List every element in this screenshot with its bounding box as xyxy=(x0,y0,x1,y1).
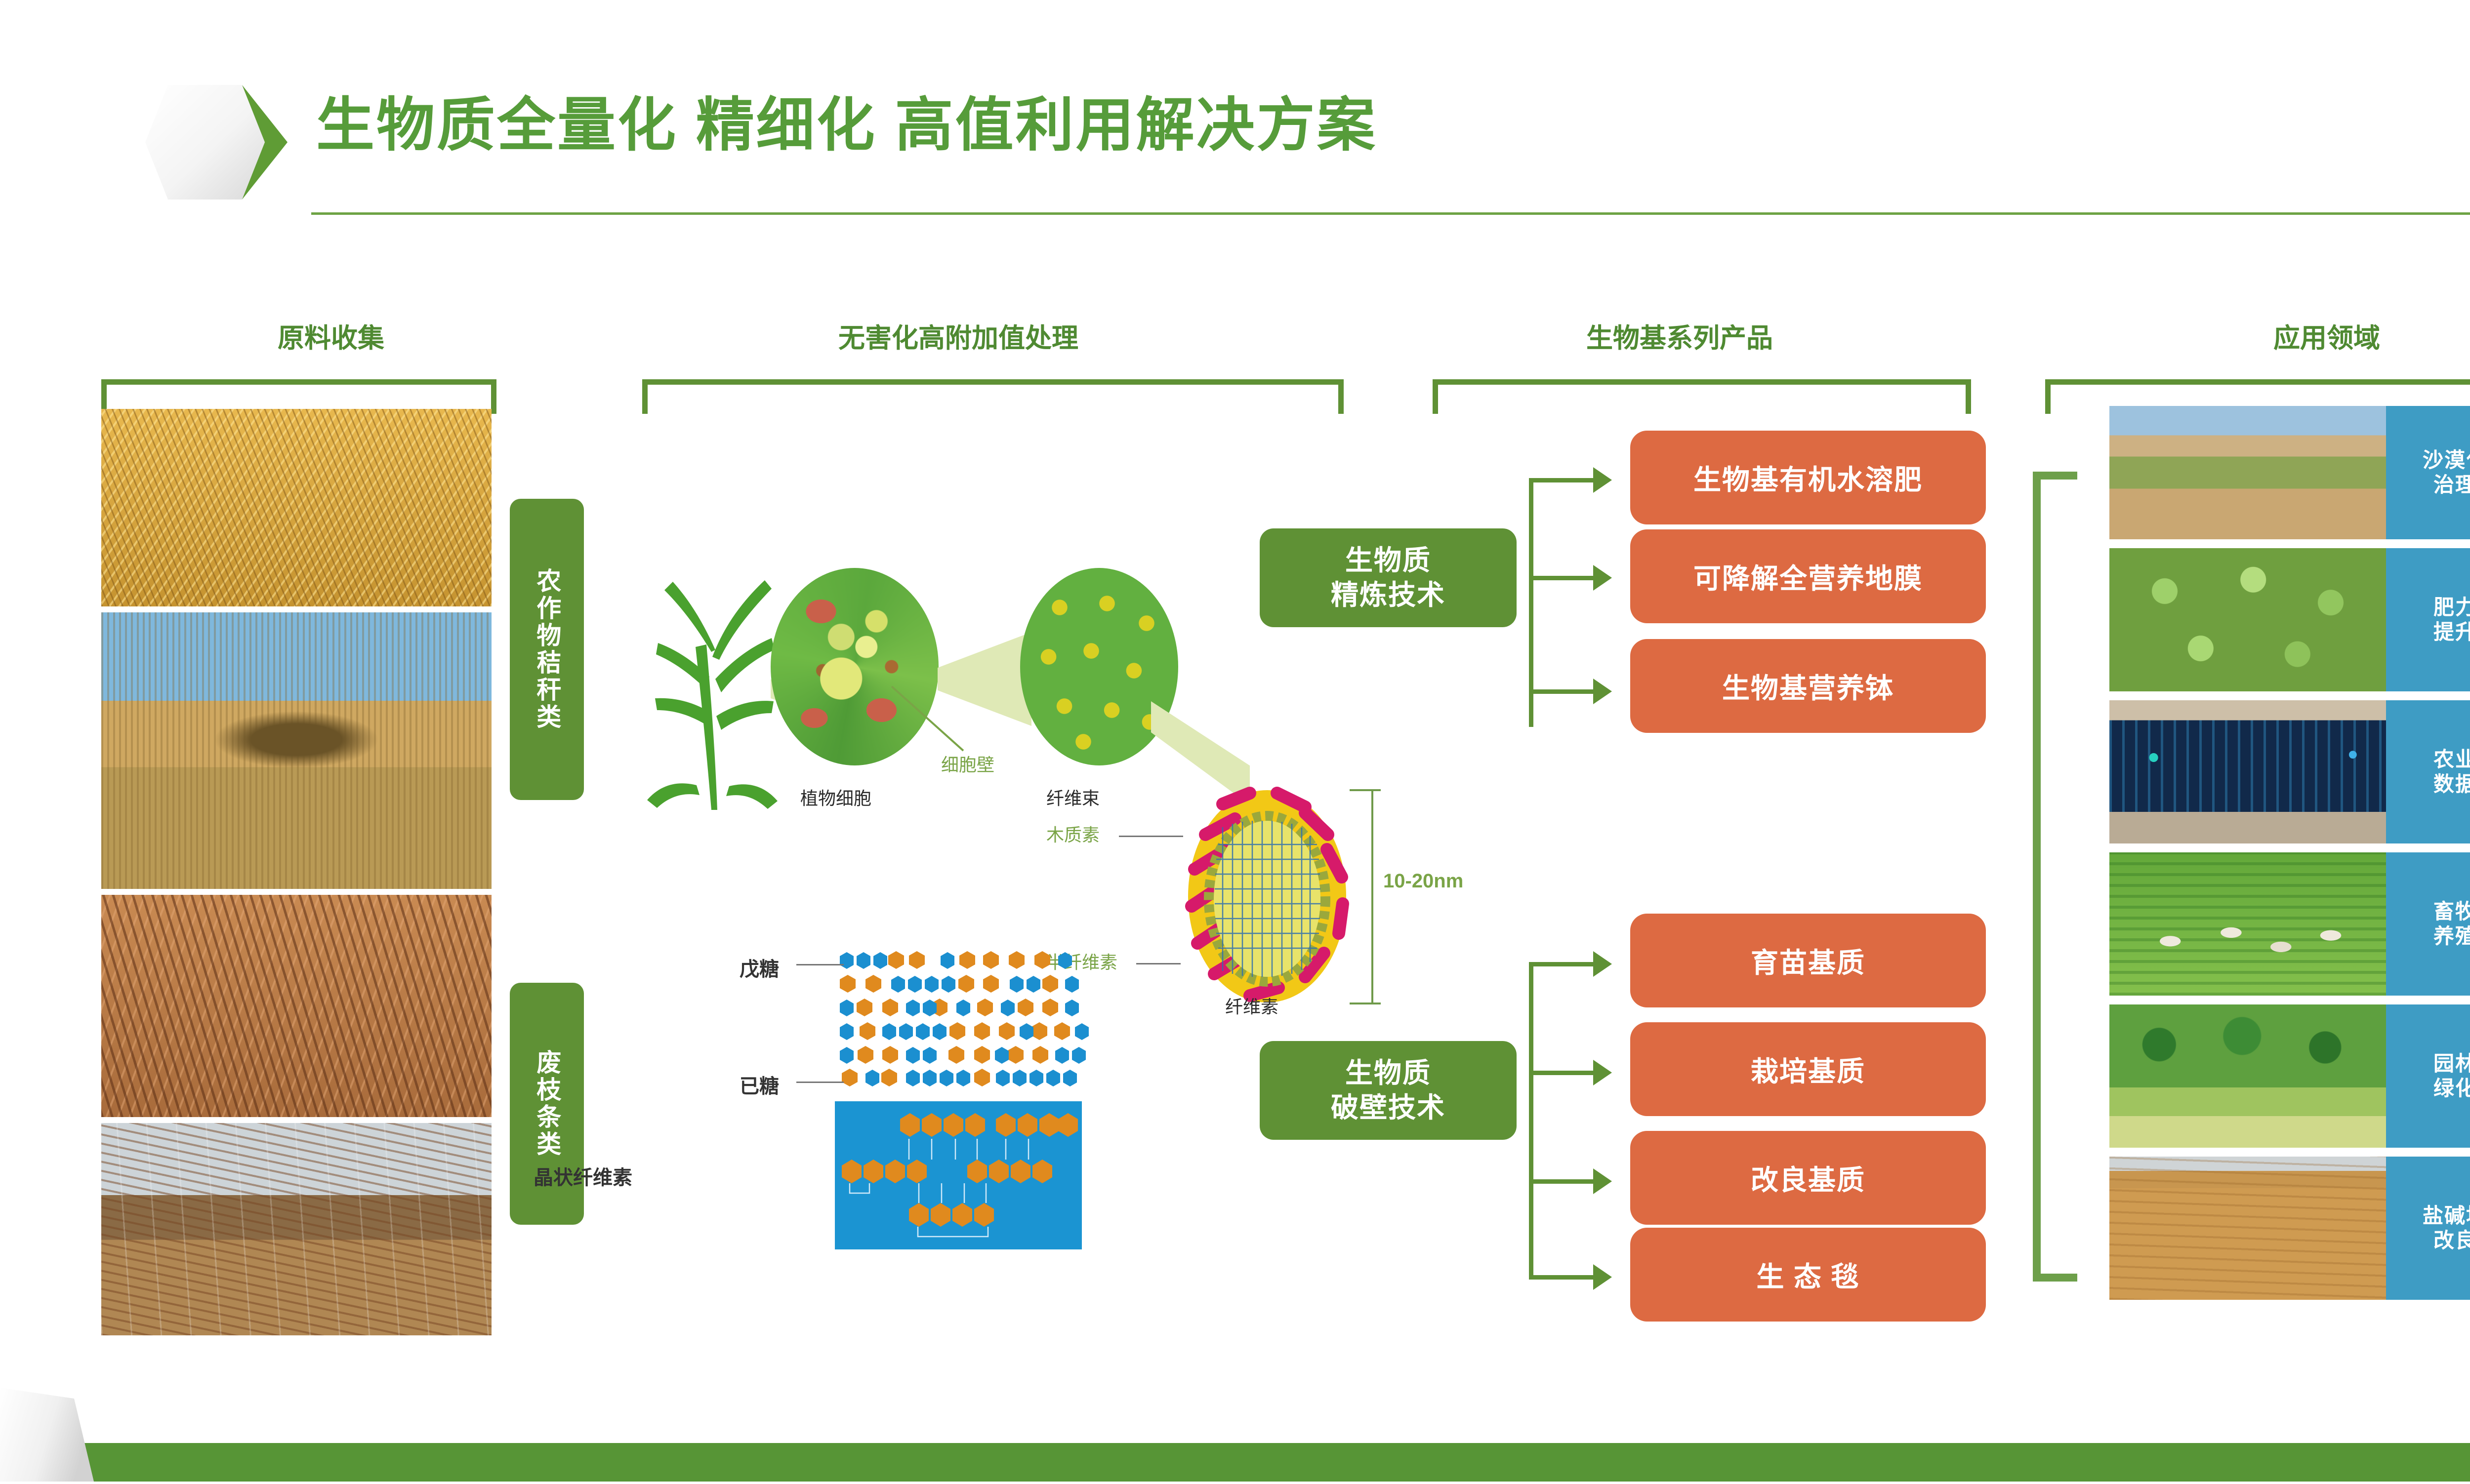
page-header: 生物质全量化 精细化 高值利用解决方案 xyxy=(0,0,2470,232)
label-hexose: 已糖 xyxy=(740,1070,779,1099)
section-title-raw-material: 原料收集 xyxy=(158,316,504,355)
app-label-livestock-breeding[interactable]: 畜牧 养殖 xyxy=(2386,852,2470,996)
app-label-desertification-control[interactable]: 沙漠化 治理 xyxy=(2386,406,2470,539)
flow2-branch-1 xyxy=(1529,962,1593,966)
label-fiber-bundle: 纤维束 xyxy=(1046,784,1100,810)
tech-line-1: 生物质 xyxy=(1345,543,1431,578)
bracket-processing xyxy=(642,379,1344,414)
hexagon-chevron-logo xyxy=(134,75,302,209)
hexose-leader-line xyxy=(796,1082,844,1083)
app-label-line-2: 提升 xyxy=(2433,620,2470,644)
corn-stalk-field-photo xyxy=(101,409,492,606)
label-pentose: 戊糖 xyxy=(740,953,779,982)
grass-plant-icon xyxy=(637,553,790,810)
category-label-crop-straw: 农作物秸秆类 xyxy=(510,499,584,800)
product-box-ecological-blanket[interactable]: 生 态 毯 xyxy=(1630,1228,1986,1322)
product-box-improvement-substrate[interactable]: 改良基质 xyxy=(1630,1131,1986,1225)
saline-land-photo xyxy=(2109,1157,2386,1300)
label-crystalline-cellulose: 晶状纤维素 xyxy=(534,1162,632,1190)
app-label-line-1: 园林 xyxy=(2433,1051,2470,1076)
product-box-biobased-nutrient-pot[interactable]: 生物基营养钵 xyxy=(1630,639,1986,733)
fiber-bundle-illustration xyxy=(1020,568,1178,765)
flow2-branch-3 xyxy=(1529,1179,1593,1184)
label-plant-cell: 植物细胞 xyxy=(800,784,871,810)
footer-bar xyxy=(0,1443,2470,1482)
product-box-organic-water-soluble-fertilizer[interactable]: 生物基有机水溶肥 xyxy=(1630,431,1986,524)
section-title-applications: 应用领域 xyxy=(2129,316,2470,355)
flow2-arrow-1 xyxy=(1593,951,1612,977)
app-label-line-2: 治理 xyxy=(2433,473,2470,497)
label-lignin: 木质素 xyxy=(1046,821,1100,846)
page-title: 生物质全量化 精细化 高值利用解决方案 xyxy=(316,94,1377,158)
tech-line-2: 精炼技术 xyxy=(1331,578,1445,612)
app-label-line-1: 盐碱地 xyxy=(2423,1203,2470,1228)
sheep-grazing-photo xyxy=(2109,852,2386,996)
product-box-degradable-nutrient-mulch-film[interactable]: 可降解全营养地膜 xyxy=(1630,529,1986,623)
crystalline-cellulose-illustration xyxy=(835,1101,1082,1249)
app-label-line-1: 农业 xyxy=(2433,747,2470,772)
pruned-branches-photo xyxy=(101,895,492,1117)
label-dimension-10-20nm: 10-20nm xyxy=(1383,870,1463,892)
product-box-seedling-substrate[interactable]: 育苗基质 xyxy=(1630,914,1986,1007)
flow1-branch-1 xyxy=(1529,478,1593,482)
app-label-landscape-greening[interactable]: 园林 绿化 xyxy=(2386,1004,2470,1148)
app-label-line-1: 畜牧 xyxy=(2433,899,2470,924)
app-label-line-2: 养殖 xyxy=(2433,924,2470,949)
tech-box-biomass-refining[interactable]: 生物质 精炼技术 xyxy=(1260,528,1517,627)
app-label-fertility-improvement[interactable]: 肥力 提升 xyxy=(2386,548,2470,691)
product-box-cultivation-substrate[interactable]: 栽培基质 xyxy=(1630,1022,1986,1116)
pentose-leader-line xyxy=(796,964,844,965)
straw-bale-field-photo xyxy=(101,612,492,889)
section-title-products: 生物基系列产品 xyxy=(1418,316,1941,355)
cellulose-cross-section-illustration xyxy=(1176,780,1383,1012)
app-label-agriculture-data[interactable]: 农业 数据 xyxy=(2386,700,2470,843)
park-greening-photo xyxy=(2109,1004,2386,1148)
flow1-arrow-3 xyxy=(1593,679,1612,704)
desert-restoration-photo xyxy=(2109,406,2386,539)
tech-line-1: 生物质 xyxy=(1345,1056,1431,1090)
vineyard-pruning-photo xyxy=(101,1123,492,1335)
section-title-processing: 无害化高附加值处理 xyxy=(632,316,1284,355)
flow2-trunk xyxy=(1529,963,1533,1279)
app-label-line-1: 沙漠化 xyxy=(2423,448,2470,473)
agriculture-data-center-photo xyxy=(2109,700,2386,843)
flow2-arrow-3 xyxy=(1593,1168,1612,1194)
hemicellulose-leader-line xyxy=(1136,963,1181,964)
flow2-arrow-4 xyxy=(1593,1264,1612,1290)
app-label-line-2: 绿化 xyxy=(2433,1076,2470,1101)
lignin-leader-line xyxy=(1119,836,1183,837)
label-cellulose: 纤维素 xyxy=(1225,993,1278,1018)
app-label-line-1: 肥力 xyxy=(2433,595,2470,620)
sugar-chain-illustration xyxy=(835,948,1092,1091)
flow1-branch-2 xyxy=(1529,576,1593,580)
bracket-products xyxy=(1433,379,1971,414)
flow1-branch-3 xyxy=(1529,689,1593,694)
app-label-line-2: 数据 xyxy=(2433,772,2470,797)
flow2-arrow-2 xyxy=(1593,1060,1612,1085)
applications-bracket xyxy=(2033,472,2077,1282)
cabbage-field-photo xyxy=(2109,548,2386,691)
flow1-arrow-1 xyxy=(1593,467,1612,493)
flow2-branch-2 xyxy=(1529,1071,1593,1075)
flow1-arrow-2 xyxy=(1593,565,1612,591)
tech-line-2: 破壁技术 xyxy=(1331,1090,1445,1125)
label-cell-wall: 细胞壁 xyxy=(941,751,994,776)
tech-box-biomass-cell-wall-breaking[interactable]: 生物质 破壁技术 xyxy=(1260,1041,1517,1140)
app-label-saline-alkali-land-improvement[interactable]: 盐碱地 改良 xyxy=(2386,1157,2470,1300)
footer-corner-wedge xyxy=(0,1388,114,1482)
flow2-branch-4 xyxy=(1529,1275,1593,1280)
title-underline xyxy=(311,212,2470,215)
app-label-line-2: 改良 xyxy=(2433,1228,2470,1253)
